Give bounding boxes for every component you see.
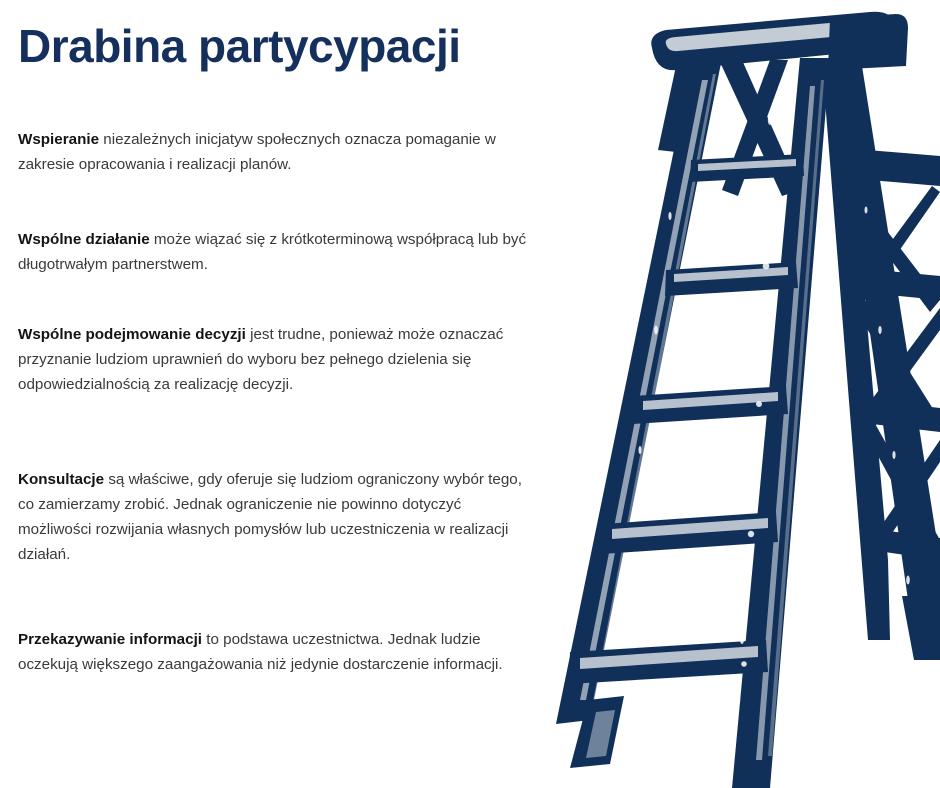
paragraph-lead: Konsultacje — [18, 471, 104, 488]
ladder-illustration: Wspieranie Wspólne działanie Wspólne pod… — [470, 0, 940, 788]
infographic-root: Drabina partycypacji Wspieranie niezależ… — [0, 0, 940, 788]
stepladder-icon — [470, 0, 940, 788]
paragraph-przekazywanie-informacji: Przekazywanie informacji to podstawa ucz… — [18, 627, 538, 677]
paragraph-wspolne-podejmowanie-decyzji: Wspólne podejmowanie decyzji jest trudne… — [18, 322, 538, 397]
paragraph-lead: Wspólne działanie — [18, 231, 150, 248]
paragraph-konsultacje: Konsultacje są właściwe, gdy oferuje się… — [18, 467, 538, 567]
paragraph-lead: Wspólne podejmowanie decyzji — [18, 326, 246, 343]
paragraph-lead: Wspieranie — [18, 131, 99, 148]
paragraph-lead: Przekazywanie informacji — [18, 631, 202, 648]
paragraph-wspolne-dzialanie: Wspólne działanie może wiązać się z krót… — [18, 227, 538, 277]
paragraph-wspieranie: Wspieranie niezależnych inicjatyw społec… — [18, 127, 538, 177]
